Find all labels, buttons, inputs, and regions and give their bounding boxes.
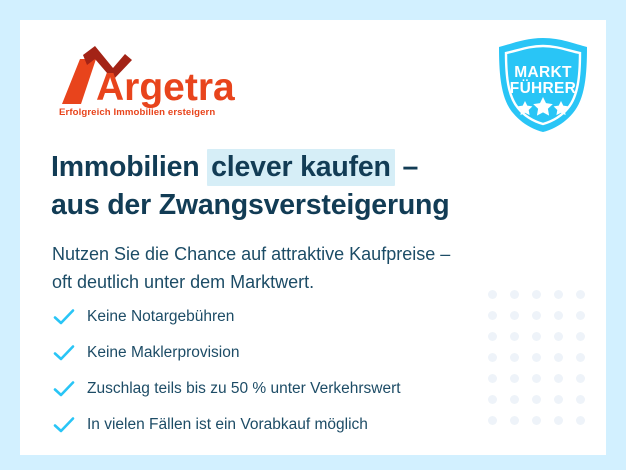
list-item: Zuschlag teils bis zu 50 % unter Verkehr… (52, 374, 552, 404)
list-item-label: In vielen Fällen ist ein Vorabkauf mögli… (87, 417, 368, 433)
logo-wordmark: Argetra (96, 66, 235, 109)
headline-line-1: Immobilien clever kaufen – (51, 149, 571, 187)
list-item-label: Keine Maklerprovision (87, 345, 240, 361)
dot (554, 374, 563, 383)
check-icon (52, 416, 87, 434)
list-item: In vielen Fällen ist ein Vorabkauf mögli… (52, 410, 552, 440)
ad-canvas: Argetra Erfolgreich Immobilien ersteiger… (20, 20, 606, 455)
headline-text-post: – (395, 151, 418, 183)
subheading-line-2: oft deutlich unter dem Marktwert. (52, 269, 572, 297)
dot (576, 353, 585, 362)
dot (554, 416, 563, 425)
list-item: Keine Notargebühren (52, 302, 552, 332)
headline-highlight: clever kaufen (207, 149, 395, 186)
badge-line1: MARKT (514, 64, 572, 81)
markt-fuehrer-badge: MARKT FÜHRER (493, 35, 593, 135)
dot (576, 374, 585, 383)
dot (576, 311, 585, 320)
benefit-checklist: Keine Notargebühren Keine Maklerprovisio… (52, 302, 552, 446)
logo-a-mark (62, 59, 96, 104)
check-icon (52, 344, 87, 362)
dot (554, 332, 563, 341)
dot (554, 311, 563, 320)
headline: Immobilien clever kaufen – aus der Zwang… (51, 149, 571, 225)
check-icon (52, 380, 87, 398)
dot (576, 332, 585, 341)
dot (576, 290, 585, 299)
check-icon (52, 308, 87, 326)
logo-tagline: Erfolgreich Immobilien ersteigern (59, 107, 215, 118)
headline-text-pre: Immobilien (51, 151, 207, 183)
dot (576, 395, 585, 404)
argetra-logo[interactable]: Argetra Erfolgreich Immobilien ersteiger… (56, 42, 246, 120)
badge-line2: FÜHRER (510, 80, 576, 97)
list-item: Keine Maklerprovision (52, 338, 552, 368)
list-item-label: Keine Notargebühren (87, 309, 234, 325)
dot (554, 353, 563, 362)
dot (554, 395, 563, 404)
ad-frame: Argetra Erfolgreich Immobilien ersteiger… (0, 0, 626, 470)
headline-line-2: aus der Zwangsversteigerung (51, 187, 571, 225)
subheading-line-1: Nutzen Sie die Chance auf attraktive Kau… (52, 241, 572, 269)
subheading: Nutzen Sie die Chance auf attraktive Kau… (52, 241, 572, 297)
list-item-label: Zuschlag teils bis zu 50 % unter Verkehr… (87, 381, 401, 397)
dot (576, 416, 585, 425)
